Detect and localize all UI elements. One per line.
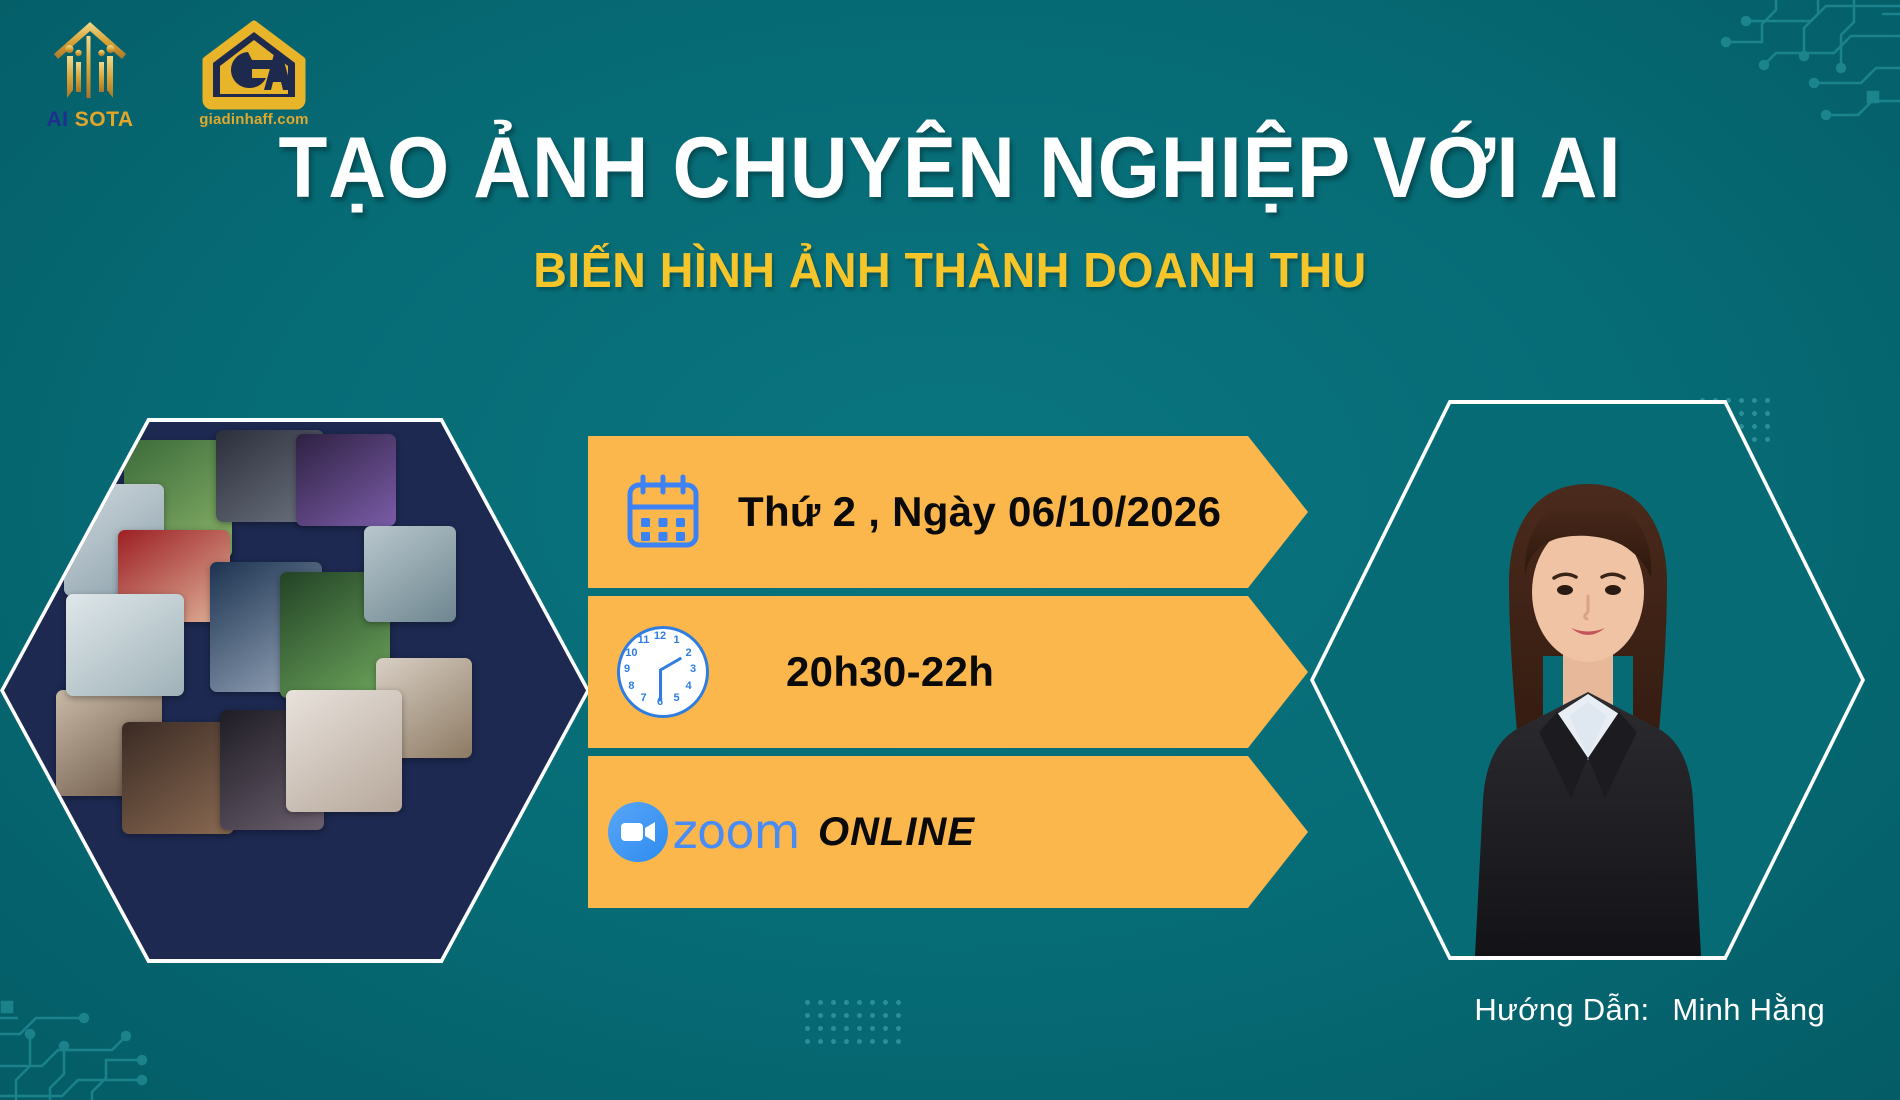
clock-number: 8 <box>628 680 634 692</box>
instructor-name: Minh Hằng <box>1672 992 1825 1027</box>
clock-number: 11 <box>638 634 650 646</box>
info-card-platform-text: ONLINE <box>818 810 975 855</box>
collage-thumbnail <box>364 526 456 622</box>
info-card-time-text: 20h30-22h <box>786 648 994 696</box>
clock-number: 2 <box>686 647 692 659</box>
info-card-date[interactable]: Thứ 2 , Ngày 06/10/2026 <box>588 436 1308 588</box>
instructor-label: Hướng Dẫn: <box>1474 992 1649 1027</box>
clock-minute-hand <box>659 669 662 701</box>
info-card-date-text: Thứ 2 , Ngày 06/10/2026 <box>738 488 1221 536</box>
clock-number: 3 <box>690 663 696 675</box>
logo-row: AI SOTA giadinhaff.com <box>42 18 310 132</box>
presenter-hexagon <box>1310 400 1865 960</box>
logo-ai-sota-text-ai: AI <box>46 108 68 131</box>
presenter-hexagon-inner <box>1314 404 1861 956</box>
collage-thumbnail <box>286 690 402 812</box>
zoom-logo-icon: zoom <box>588 801 818 863</box>
info-card-platform[interactable]: zoom ONLINE <box>588 756 1308 908</box>
poster-canvas: AI SOTA giadinhaff.com TẠO ẢNH CHUYÊN NG… <box>0 0 1900 1100</box>
clock-hour-hand <box>660 657 682 672</box>
instructor-credit: Hướng Dẫn: Minh Hằng <box>1474 992 1825 1028</box>
calendar-icon <box>588 473 738 551</box>
collage-thumbnail <box>296 434 396 526</box>
building-tower-icon <box>42 18 138 106</box>
page-subtitle: BIẾN HÌNH ẢNH THÀNH DOANH THU <box>48 247 1853 296</box>
collage-thumbnail <box>122 722 234 834</box>
logo-giadinhaff[interactable]: giadinhaff.com <box>198 18 310 128</box>
clock-number: 12 <box>654 630 666 642</box>
collage-thumbnail <box>66 594 184 696</box>
collage-inner <box>4 422 586 959</box>
zoom-wordmark: zoom <box>673 804 800 860</box>
clock-icon: 121234567891011 <box>588 626 738 718</box>
instructor-portrait <box>1423 456 1753 956</box>
logo-ai-sota[interactable]: AI SOTA <box>42 18 138 132</box>
clock-number: 9 <box>624 663 630 675</box>
event-info-cards: Thứ 2 , Ngày 06/10/2026 121234567891011 … <box>588 436 1308 916</box>
clock-number: 10 <box>625 647 637 659</box>
clock-number: 7 <box>640 692 646 704</box>
clock-number: 4 <box>686 680 692 692</box>
page-title: TẠO ẢNH CHUYÊN NGHIỆP VỚI AI <box>67 125 1834 211</box>
clock-number: 5 <box>673 692 679 704</box>
house-ga-icon <box>198 18 310 110</box>
image-collage-hexagon <box>0 418 590 963</box>
clock-number: 1 <box>673 634 679 646</box>
info-card-time[interactable]: 121234567891011 20h30-22h <box>588 596 1308 748</box>
